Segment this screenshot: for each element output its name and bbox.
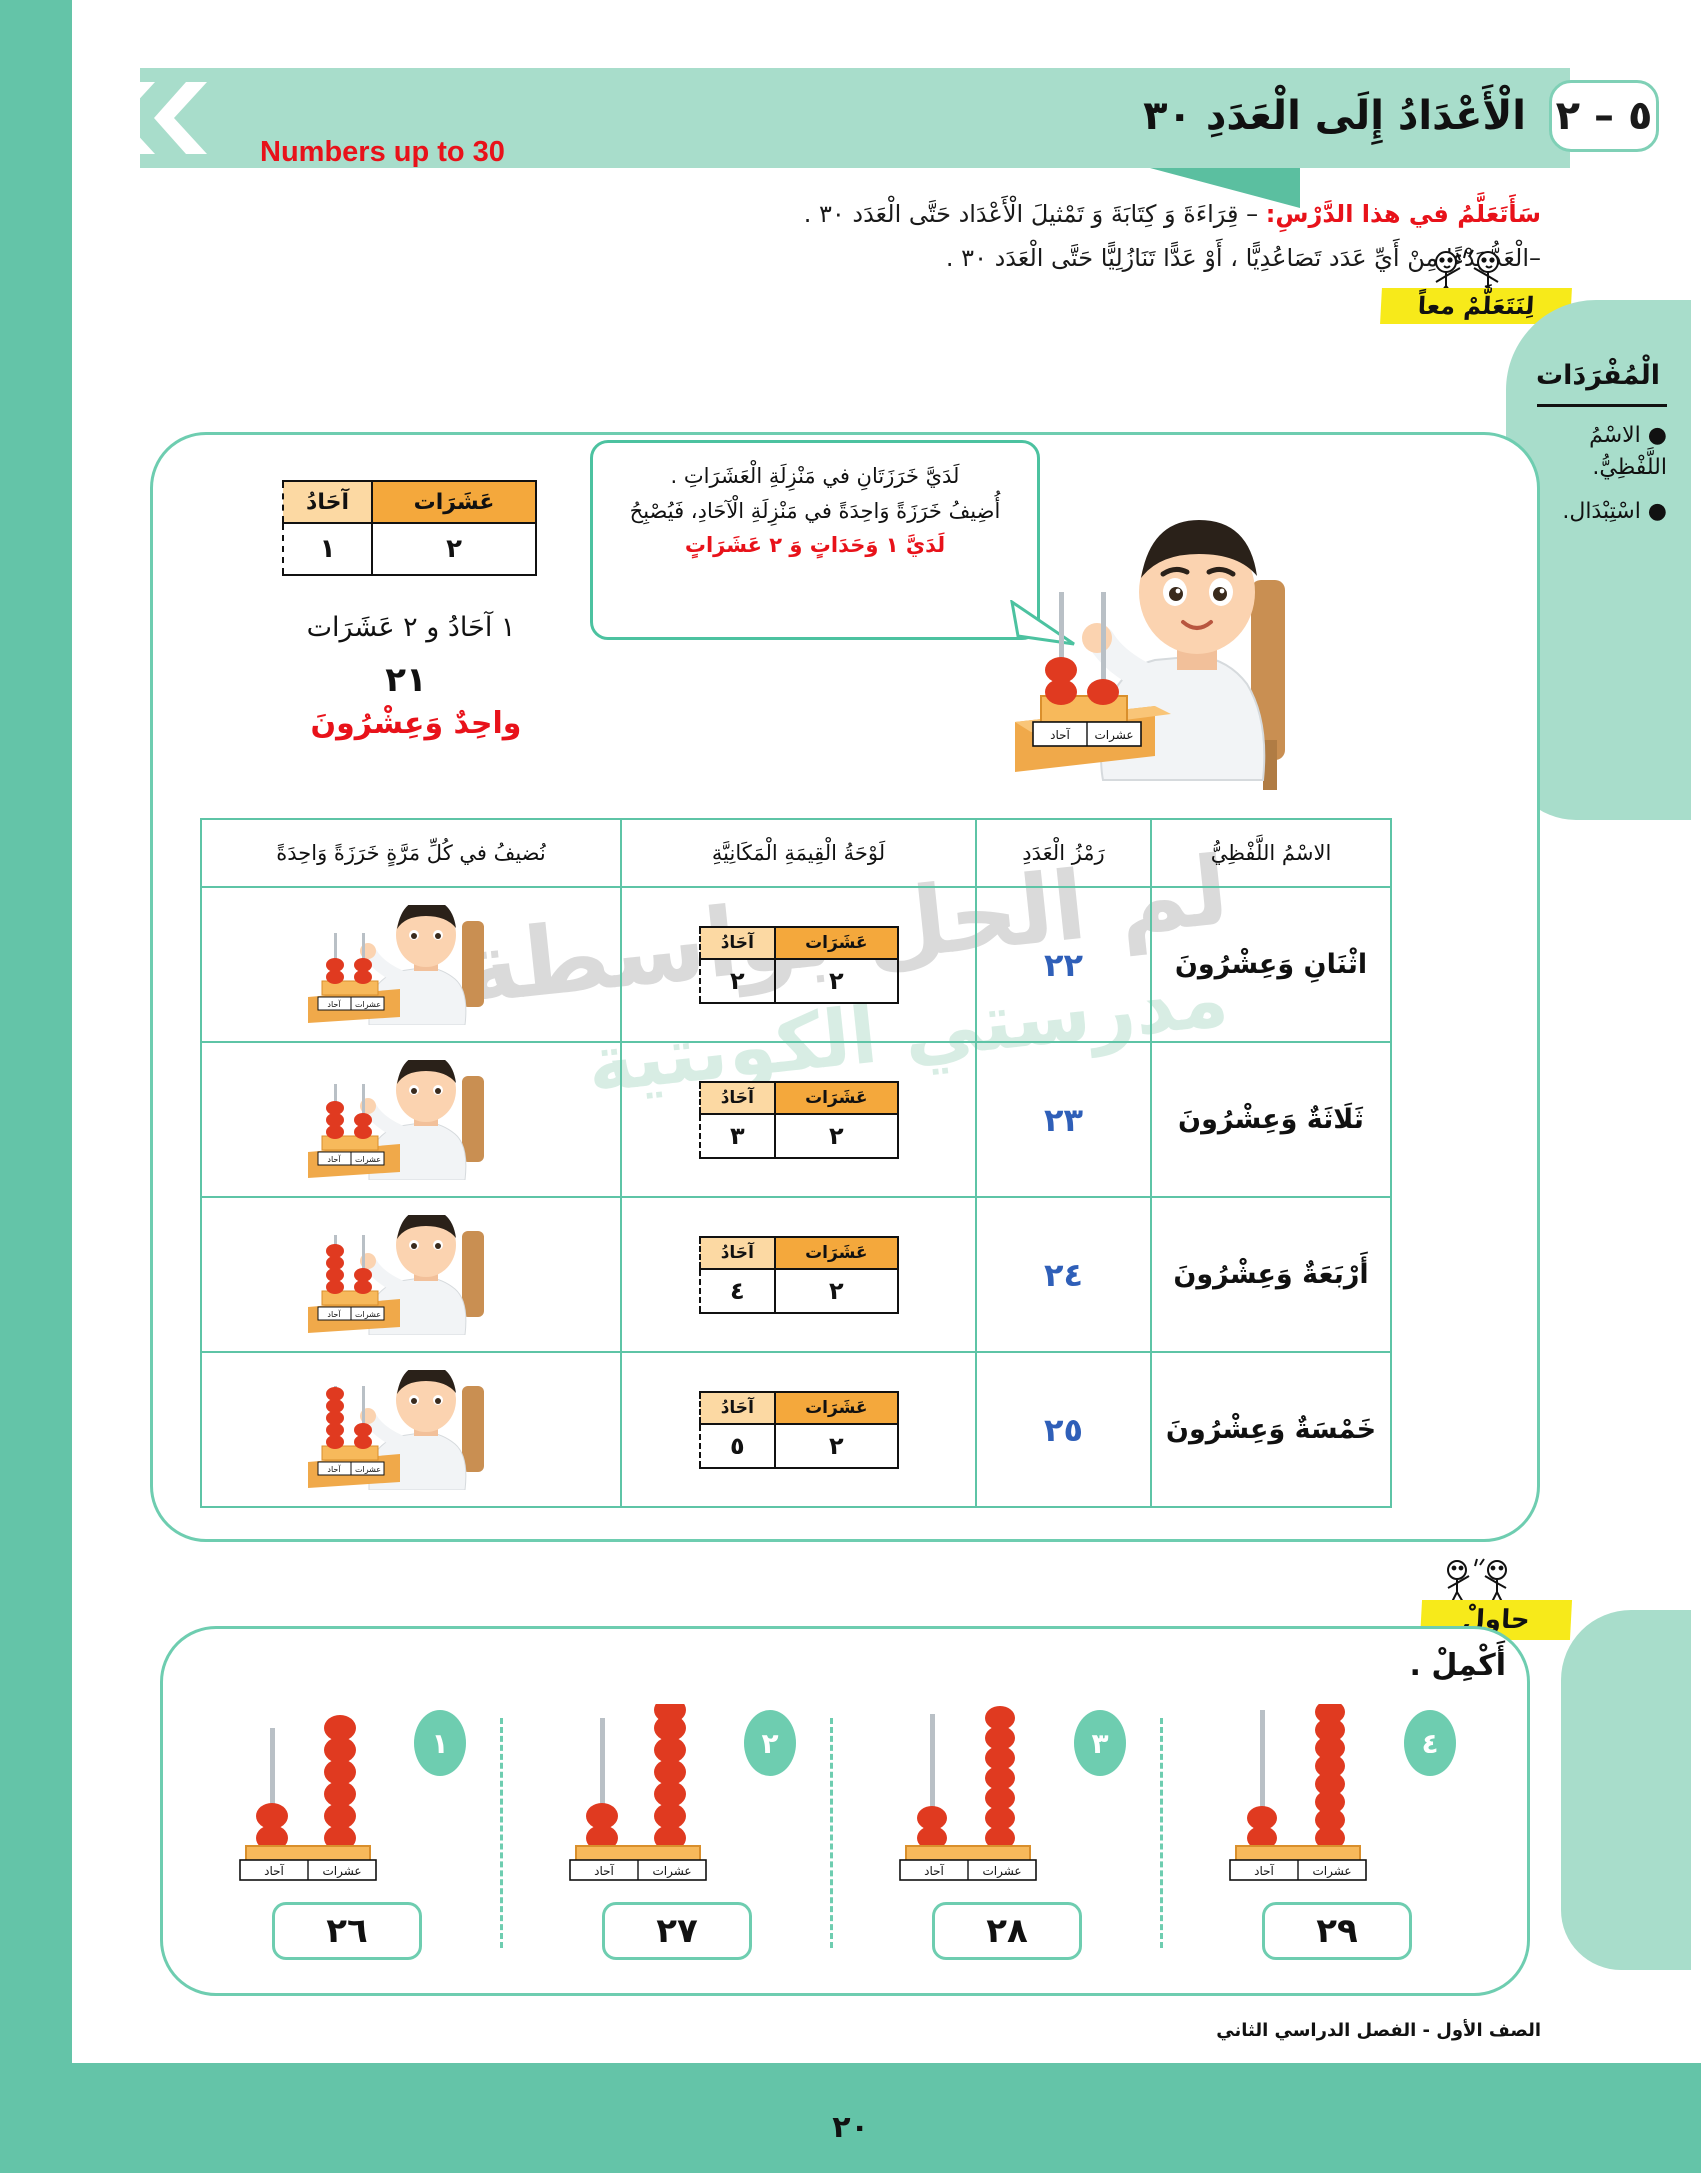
th-place-value-board: لَوْحَةُ الْقِيمَةِ الْمَكَانِيَّةِ [621, 819, 976, 887]
cell-name: ثَلَاثَةٌ وَعِشْرُونَ [1151, 1042, 1391, 1197]
svg-text:آحاد: آحاد [1050, 727, 1070, 742]
mini-td-tens: ٢ [775, 959, 897, 1003]
cell-symbol: ٢٤ [976, 1197, 1151, 1352]
table-header-row: الاسْمُ اللَّفْظِيُّ رَمْزُ الْعَدَدِ لَ… [201, 819, 1391, 887]
exercise-answer[interactable]: ٢٨ [932, 1902, 1082, 1960]
svg-text:آحاد: آحاد [327, 1154, 341, 1164]
practice-instruction: أَكْمِلْ . [1410, 1648, 1506, 1683]
svg-text:عشرات: عشرات [652, 1864, 691, 1879]
footer-band: ٢٠ [0, 2063, 1701, 2173]
objective-line-1: سَأَتَعَلَّمُ في هذا الدَّرْسِ: – قِرَاء… [311, 192, 1541, 236]
practice-exercises: ١ آحاد عشرات ٢٦ ٢ [170, 1690, 1520, 1990]
cell-illustration: آحاد عشرات [201, 1352, 621, 1507]
objectives: سَأَتَعَلَّمُ في هذا الدَّرْسِ: – قِرَاء… [311, 192, 1541, 281]
pv-header-tens: عَشَرَات [372, 481, 536, 523]
mini-th-tens: عَشَرَات [775, 1082, 897, 1114]
stick-figures-icon-2 [1431, 1556, 1531, 1602]
cell-symbol: ٢٣ [976, 1042, 1151, 1197]
svg-text:عشرات: عشرات [982, 1864, 1021, 1879]
boy-with-abacus-illustration: آحاد عشرات [1005, 500, 1335, 790]
practice-side-panel [1561, 1610, 1691, 1970]
svg-text:آحاد: آحاد [327, 999, 341, 1009]
svg-text:عشرات: عشرات [354, 1310, 380, 1319]
exercise-divider [1160, 1718, 1163, 1948]
numbers-table: الاسْمُ اللَّفْظِيُّ رَمْزُ الْعَدَدِ لَ… [200, 818, 1392, 1508]
lesson-number-badge: ٥ – ٢ [1549, 80, 1659, 152]
exercise-item[interactable]: ٢ آحاد عشرات ٢٧ [500, 1690, 830, 1990]
mini-th-tens: عَشَرَات [775, 927, 897, 959]
cell-illustration: آحاد عشرات [201, 887, 621, 1042]
exercise-item[interactable]: ٤ آحاد عشرات ٢٩ [1160, 1690, 1490, 1990]
footer-note: الصف الأول - الفصل الدراسي الثاني [1216, 2020, 1541, 2041]
pv-value-ones: ١ [283, 523, 372, 575]
vocabulary-title: الْمُفْرَدَات [1523, 360, 1673, 391]
pv-header-ones: آحَادُ [283, 481, 372, 523]
abacus-illustration: آحاد عشرات [1208, 1704, 1428, 1884]
page-number: ٢٠ [832, 2110, 869, 2145]
place-value-number: ٢١ [291, 660, 521, 700]
exercise-answer[interactable]: ٢٦ [272, 1902, 422, 1960]
mini-th-ones: آحَادُ [700, 1392, 776, 1424]
place-value-caption: ١ آحَادُ و ٢ عَشَرَات [251, 612, 571, 643]
mini-td-ones: ٢ [700, 959, 776, 1003]
svg-text:عشرات: عشرات [354, 1465, 380, 1474]
th-number-symbol: رَمْزُ الْعَدَدِ [976, 819, 1151, 887]
cell-symbol: ٢٢ [976, 887, 1151, 1042]
exercise-answer[interactable]: ٢٧ [602, 1902, 752, 1960]
page-title-english: Numbers up to 30 [260, 136, 505, 169]
exercise-answer[interactable]: ٢٩ [1262, 1902, 1412, 1960]
table-row: خَمْسَةٌ وَعِشْرُونَ ٢٥ عَشَرَات آحَادُ … [201, 1352, 1391, 1507]
abacus-illustration: آحاد عشرات [548, 1704, 768, 1884]
mini-th-tens: عَشَرَات [775, 1237, 897, 1269]
abacus-illustration: آحاد عشرات [878, 1704, 1098, 1884]
mini-th-tens: عَشَرَات [775, 1392, 897, 1424]
bubble-line-2: أُضِيفُ خَرَزَةً وَاحِدَةً في مَنْزِلَةِ… [611, 494, 1019, 529]
mini-td-tens: ٢ [775, 1114, 897, 1158]
table-row: اثْنَانِ وَعِشْرُونَ ٢٢ عَشَرَات آحَادُ … [201, 887, 1391, 1042]
svg-text:آحاد: آحاد [594, 1863, 614, 1878]
abacus-illustration: آحاد عشرات [218, 1704, 438, 1884]
th-verbal-name: الاسْمُ اللَّفْظِيُّ [1151, 819, 1391, 887]
table-row: ثَلَاثَةٌ وَعِشْرُونَ ٢٣ عَشَرَات آحَادُ… [201, 1042, 1391, 1197]
mini-td-tens: ٢ [775, 1424, 897, 1468]
svg-text:عشرات: عشرات [1312, 1864, 1351, 1879]
place-value-table-top: عَشَرَات آحَادُ ٢ ١ [282, 480, 537, 576]
cell-name: اثْنَانِ وَعِشْرُونَ [1151, 887, 1391, 1042]
objective-line-1-text: – قِرَاءَةَ وَ كِتَابَةَ وَ تَمْثيلَ الْ… [804, 200, 1266, 228]
mini-td-ones: ٤ [700, 1269, 776, 1313]
svg-text:آحاد: آحاد [264, 1863, 284, 1878]
exercise-item[interactable]: ٣ آحاد عشرات ٢٨ [830, 1690, 1160, 1990]
mini-td-ones: ٥ [700, 1424, 776, 1468]
chevron-left-icon [100, 78, 160, 158]
svg-text:عشرات: عشرات [322, 1864, 361, 1879]
vocabulary-divider [1537, 404, 1667, 407]
bubble-line-3: لَدَيَّ ١ وَحَدَاتٍ وَ ٢ عَشَرَاتٍ [611, 528, 1019, 563]
objective-lead: سَأَتَعَلَّمُ في هذا الدَّرْسِ: [1266, 200, 1541, 228]
cell-illustration: آحاد عشرات [201, 1042, 621, 1197]
mini-th-ones: آحَادُ [700, 1082, 776, 1114]
th-add-bead: نُضيفُ في كُلِّ مَرَّةٍ خَرَزَةً وَاحِدَ… [201, 819, 621, 887]
pv-value-tens: ٢ [372, 523, 536, 575]
svg-text:عشرات: عشرات [354, 1155, 380, 1164]
mini-td-ones: ٣ [700, 1114, 776, 1158]
textbook-page: ٥ – ٢ الْأَعْدَادُ إِلَى الْعَدَدِ ٣٠ Nu… [0, 0, 1701, 2173]
objective-line-2: –الْعَدُّ بَدْءًا مِنْ أَيِّ عَدَد تَصَا… [311, 236, 1541, 280]
exercise-divider [830, 1718, 833, 1948]
mini-th-ones: آحَادُ [700, 1237, 776, 1269]
mini-td-tens: ٢ [775, 1269, 897, 1313]
exercise-item[interactable]: ١ آحاد عشرات ٢٦ [170, 1690, 500, 1990]
svg-text:آحاد: آحاد [327, 1464, 341, 1474]
cell-place-value: عَشَرَات آحَادُ ٢ ٢ [621, 887, 976, 1042]
speech-bubble: لَدَيَّ خَرَزَتَانِ في مَنْزِلَةِ الْعَش… [590, 440, 1040, 640]
chevron-left-icon-2 [152, 78, 212, 158]
cell-place-value: عَشَرَات آحَادُ ٢ ٣ [621, 1042, 976, 1197]
cell-place-value: عَشَرَات آحَادُ ٢ ٥ [621, 1352, 976, 1507]
svg-text:عشرات: عشرات [1094, 728, 1133, 743]
svg-text:آحاد: آحاد [327, 1309, 341, 1319]
svg-text:آحاد: آحاد [1254, 1863, 1274, 1878]
cell-place-value: عَشَرَات آحَادُ ٢ ٤ [621, 1197, 976, 1352]
cell-name: أَرْبَعَةٌ وَعِشْرُونَ [1151, 1197, 1391, 1352]
mini-th-ones: آحَادُ [700, 927, 776, 959]
cell-name: خَمْسَةٌ وَعِشْرُونَ [1151, 1352, 1391, 1507]
page-title: الْأَعْدَادُ إِلَى الْعَدَدِ ٣٠ [626, 86, 1526, 146]
left-edge-bar [0, 0, 72, 2173]
svg-text:آحاد: آحاد [924, 1863, 944, 1878]
table-row: أَرْبَعَةٌ وَعِشْرُونَ ٢٤ عَشَرَات آحَاد… [201, 1197, 1391, 1352]
svg-text:عشرات: عشرات [354, 1000, 380, 1009]
place-value-word: واحِدٌ وَعِشْرُونَ [251, 706, 581, 741]
exercise-divider [500, 1718, 503, 1948]
bubble-line-1: لَدَيَّ خَرَزَتَانِ في مَنْزِلَةِ الْعَش… [611, 459, 1019, 494]
cell-symbol: ٢٥ [976, 1352, 1151, 1507]
cell-illustration: آحاد عشرات [201, 1197, 621, 1352]
